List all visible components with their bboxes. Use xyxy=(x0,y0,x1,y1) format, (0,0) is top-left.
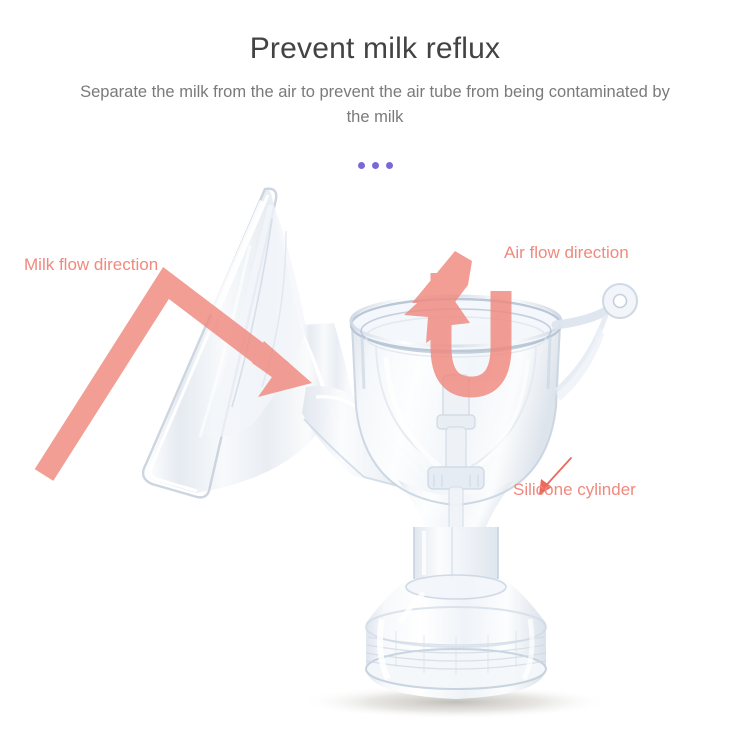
header: Prevent milk reflux Separate the milk fr… xyxy=(0,0,750,131)
page-title: Prevent milk reflux xyxy=(0,0,750,68)
breast-shield-flange xyxy=(143,189,356,498)
dot-icon xyxy=(386,162,393,169)
dot-icon xyxy=(372,162,379,169)
lower-stem xyxy=(414,527,498,579)
side-tab-handle xyxy=(556,284,637,401)
infographic-page: Prevent milk reflux Separate the milk fr… xyxy=(0,0,750,750)
decorative-dots-group xyxy=(0,162,750,169)
milk-flow-label: Milk flow direction xyxy=(24,256,158,273)
page-subtitle: Separate the milk from the air to preven… xyxy=(75,68,675,131)
air-flow-label: Air flow direction xyxy=(504,244,629,261)
dot-icon xyxy=(358,162,365,169)
ribbed-base-collar xyxy=(366,575,546,699)
silicone-cylinder-label: Silicone cylinder xyxy=(513,481,636,498)
